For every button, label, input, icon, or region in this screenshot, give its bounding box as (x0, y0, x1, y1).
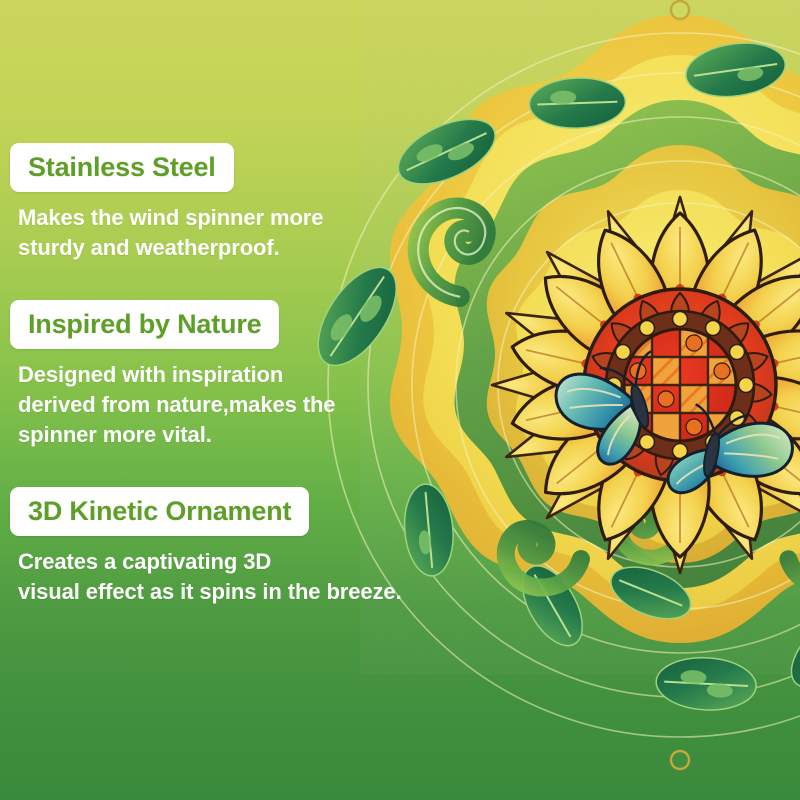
feature-inspired-by-nature: Inspired by Nature Designed with inspira… (10, 300, 335, 450)
feature-description: Creates a captivating 3D visual effect a… (10, 547, 402, 607)
feature-description: Designed with inspiration derived from n… (10, 360, 335, 450)
feature-title: Inspired by Nature (28, 309, 261, 339)
feature-stainless-steel: Stainless Steel Makes the wind spinner m… (10, 143, 323, 263)
feature-3d-kinetic-ornament: 3D Kinetic Ornament Creates a captivatin… (10, 487, 402, 607)
feature-title-badge: Inspired by Nature (10, 300, 279, 349)
feature-title: 3D Kinetic Ornament (28, 496, 291, 526)
feature-title: Stainless Steel (28, 152, 216, 182)
feature-description: Makes the wind spinner more sturdy and w… (10, 203, 323, 263)
product-feature-graphic: Stainless Steel Makes the wind spinner m… (0, 0, 800, 800)
feature-title-badge: Stainless Steel (10, 143, 234, 192)
feature-title-badge: 3D Kinetic Ornament (10, 487, 309, 536)
feature-list: Stainless Steel Makes the wind spinner m… (0, 0, 470, 800)
